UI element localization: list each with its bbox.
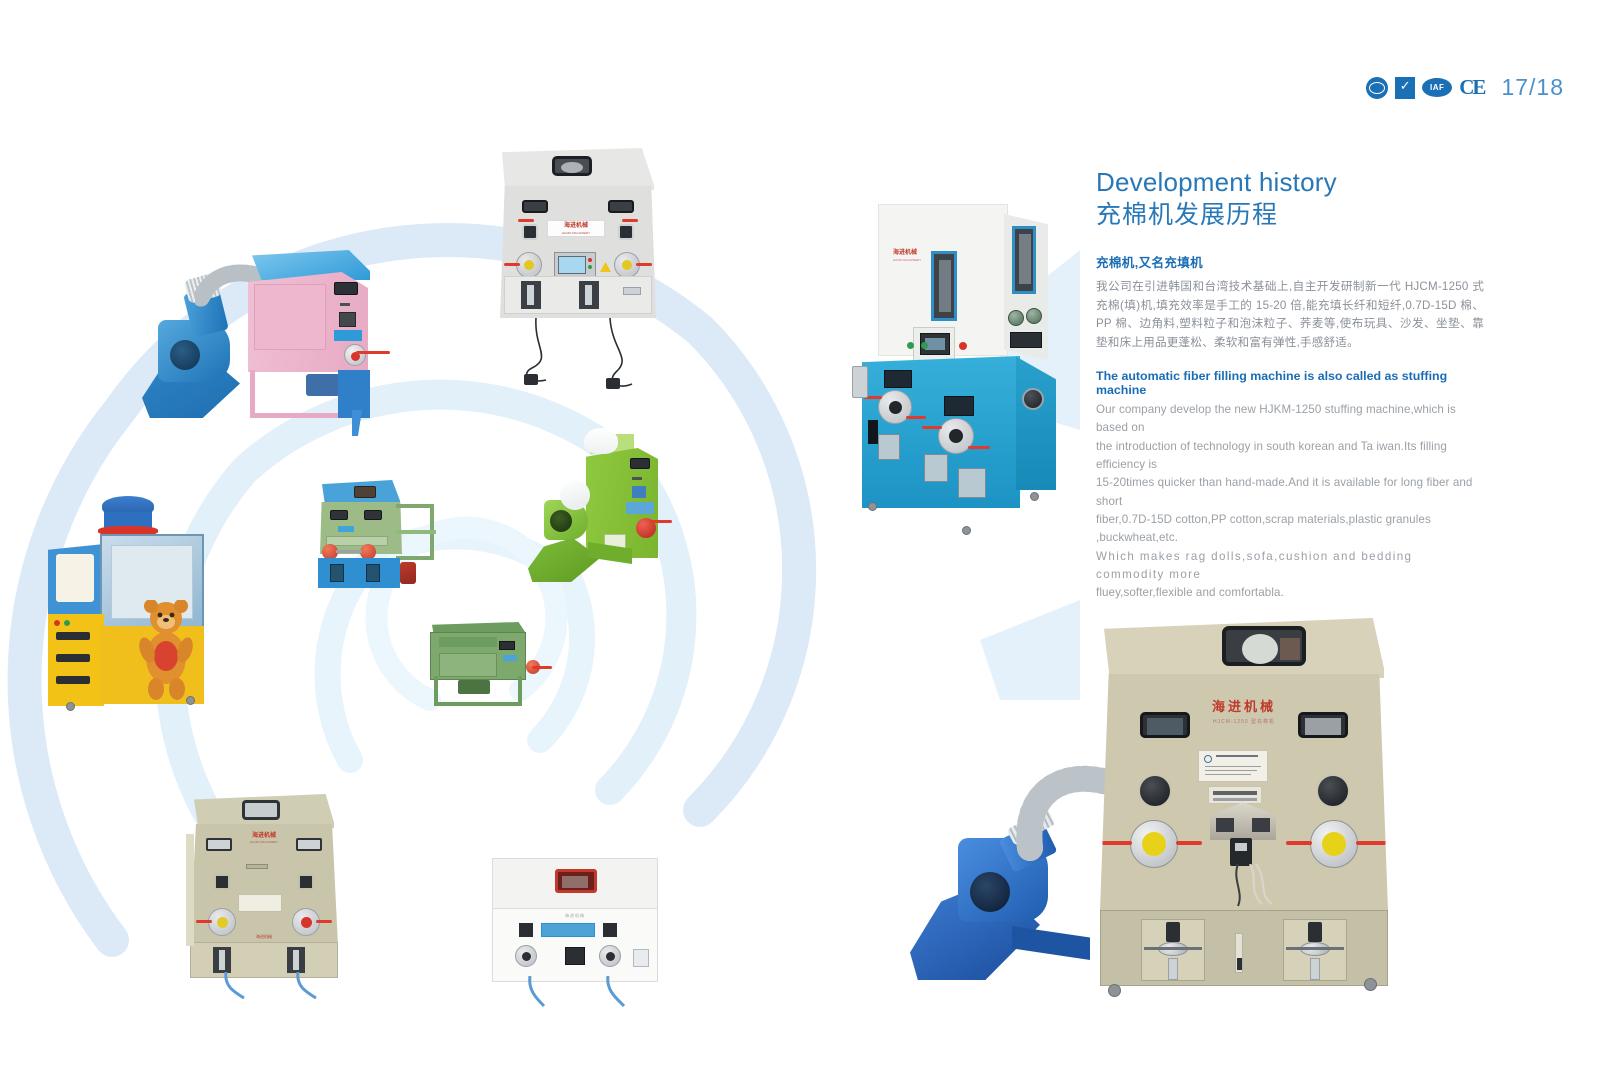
machine-pink-stuffing-machine	[140, 228, 390, 448]
cable-bundle	[1228, 864, 1288, 908]
pink-machine-cabinet	[248, 272, 368, 372]
certification-bar: IAF CE 17/18	[1366, 74, 1564, 101]
left-window-frame	[48, 544, 104, 616]
right-regulator-recess	[579, 281, 599, 309]
machine-green-blue-opener-machine	[306, 480, 438, 592]
hmi-screen	[558, 256, 586, 274]
left-knob	[522, 224, 538, 240]
motor-unit	[458, 680, 490, 694]
right-knob	[298, 874, 314, 890]
brand-label: 海进机械	[548, 221, 604, 231]
body-chinese: 我公司在引进韩国和台湾技术基础上,自主开发研制新一代 HJCM-1250 式充棉…	[1096, 278, 1484, 353]
blower-intake	[550, 510, 572, 532]
hopper-window	[552, 156, 592, 176]
cable-duct	[868, 420, 878, 444]
page-number: 17/18	[1501, 74, 1564, 101]
left-nozzle-rod	[504, 263, 520, 266]
center-distribution-funnel	[1210, 802, 1276, 840]
green-run-button	[921, 342, 928, 349]
inspection-window-mid	[924, 454, 948, 482]
blower-intake	[970, 872, 1010, 912]
left-knob	[214, 874, 230, 890]
display-left	[330, 510, 348, 520]
left-sight-window	[522, 200, 548, 213]
service-bay	[1100, 910, 1388, 986]
nozzle-rod	[532, 666, 552, 669]
body-english-line: fiber,0.7D-15D cotton,PP cotton,scrap ma…	[1096, 511, 1484, 548]
tower-sight-window-left	[931, 251, 957, 321]
side-wheel-b	[1026, 308, 1042, 324]
fiber-roll	[400, 562, 416, 584]
cabinet-door	[254, 284, 326, 350]
hopper-window	[1222, 626, 1306, 666]
machine-toy-bear-machine	[46, 496, 228, 712]
front-door	[439, 653, 497, 677]
subtitle-chinese: 充棉机,又名充填机	[1096, 252, 1484, 271]
brand-sublabel: HAIJIN MACHINERY	[893, 258, 921, 262]
label-plate	[541, 923, 595, 937]
upper-cabinet	[492, 858, 658, 910]
green-start-button	[907, 342, 914, 349]
terminal-strip	[246, 864, 268, 869]
right-foot-pedal	[606, 378, 620, 389]
upper-tower-side	[1004, 214, 1048, 360]
brand-sublabel: HAIJIN MACHINERY	[548, 231, 604, 236]
caster-wheel	[186, 696, 195, 705]
check-certification-icon	[1395, 77, 1415, 99]
iso-certification-icon	[1366, 77, 1388, 99]
run-lamp	[64, 620, 70, 626]
blower-base-plate	[1012, 926, 1090, 960]
switch-strip	[632, 477, 642, 480]
blower-intake	[170, 340, 200, 370]
brand-label: 海进机械	[893, 247, 917, 256]
base-display-left	[884, 370, 912, 388]
left-lower-body-yellow	[48, 614, 104, 706]
right-regulator-recess	[287, 947, 305, 973]
machine-white-twin-station-machine: 海进机械 HAIJIN MACHINERY	[496, 148, 676, 398]
emergency-stop-button	[959, 342, 967, 350]
air-filter-regulator	[852, 366, 868, 398]
label-plate	[334, 330, 362, 341]
blue-base	[318, 558, 400, 588]
drawer-handle	[56, 632, 90, 640]
motor-unit	[306, 374, 340, 396]
caster-wheel	[962, 526, 971, 535]
lower-cabinet: 海进机械	[492, 908, 658, 982]
frame-cross-member	[396, 530, 436, 534]
left-regulator-recess	[1141, 919, 1205, 981]
inspection-window-left	[878, 434, 900, 460]
tower-sight-window-right	[1012, 226, 1036, 294]
hmi-run-led	[588, 265, 592, 269]
left-knob	[519, 923, 533, 937]
blower-fluff-ball	[560, 480, 590, 510]
main-cabinet: 海进机械 HAIJIN MACHINERY	[500, 186, 656, 318]
right-regulator-recess	[1283, 919, 1347, 981]
spec-plate	[1198, 750, 1268, 782]
brand-strip	[338, 526, 354, 532]
right-red-indicator	[622, 219, 638, 222]
left-side-face	[186, 834, 194, 946]
machine-beige-twin-station-machine: 海进机械 HAIJIN MACHINERY 海进机械	[186, 790, 346, 990]
caster-wheel	[1364, 978, 1377, 991]
left-filling-wheel	[208, 908, 236, 936]
window-fiber-view	[1242, 634, 1278, 664]
left-regulator-recess	[213, 947, 231, 973]
spec-plate	[238, 894, 282, 912]
valve-block	[339, 312, 356, 327]
brand-label: 海进机械	[190, 830, 338, 839]
right-nozzle-rod-out	[1286, 841, 1312, 845]
side-valve	[1022, 388, 1044, 410]
left-nozzle-rod	[196, 920, 212, 923]
brand-plate: 海进机械 HAIJIN MACHINERY	[547, 220, 605, 237]
foot-pedal-cable	[352, 410, 362, 436]
carding-body	[430, 632, 526, 680]
right-knob	[603, 923, 617, 937]
main-cabinet: 海进机械 HAIJIN MACHINERY 海进机械	[190, 824, 338, 946]
brand-label: 海进机械	[493, 913, 657, 919]
right-sight-window	[608, 200, 634, 213]
title-english: Development history	[1096, 168, 1484, 198]
hmi-power-led	[588, 258, 592, 262]
brochure-page: IAF CE 17/18 Development history 充棉机发展历程…	[0, 0, 1600, 1092]
pedal-cables	[516, 314, 666, 398]
iaf-certification-icon: IAF	[1422, 78, 1452, 97]
machine-white-bench-machine: 海进机械	[488, 856, 664, 1006]
side-display	[1010, 332, 1042, 348]
fiber-output-fluff	[584, 428, 618, 454]
warning-plate	[1208, 786, 1262, 804]
hopper-window	[555, 869, 597, 893]
switch-strip	[340, 303, 350, 306]
display	[630, 458, 650, 469]
right-filling-wheel	[599, 945, 621, 967]
subtitle-english: The automatic fiber filling machine is a…	[1096, 369, 1484, 397]
body-english-line: Which makes rag dolls,sofa,cushion and b…	[1096, 548, 1484, 585]
body-english: Our company develop the new HJKM-1250 st…	[1096, 401, 1484, 602]
left-rotary-knob	[1138, 774, 1172, 808]
valve-block	[632, 486, 646, 498]
right-filling-wheel	[1310, 820, 1358, 868]
drawer-handle	[56, 654, 90, 662]
brand-sublabel: HAIJIN MACHINERY	[190, 840, 338, 844]
right-nozzle-rod	[636, 263, 652, 266]
title-chinese: 充棉机发展历程	[1096, 200, 1484, 230]
base-display-right	[944, 396, 974, 416]
hopper-window	[242, 800, 280, 820]
body-english-line: the introduction of technology in south …	[1096, 438, 1484, 475]
machine-blue-white-large-machine: 海进机械 HAIJIN MACHINERY	[844, 196, 1060, 536]
teddy-bear-decal	[134, 600, 198, 704]
terminal-block	[623, 287, 641, 295]
machine-green-carding-machine	[424, 618, 544, 714]
right-nozzle-rod-lower	[968, 446, 990, 449]
display	[499, 641, 515, 650]
right-knob	[618, 224, 634, 240]
window-glare	[561, 162, 583, 173]
left-sight-window	[1140, 712, 1190, 738]
body-english-line: Our company develop the new HJKM-1250 st…	[1096, 401, 1484, 438]
center-gauge-strip	[1235, 933, 1243, 973]
left-red-indicator	[518, 219, 534, 222]
footer-text: 海进机械	[190, 934, 338, 940]
left-nozzle-rod-lower	[906, 416, 926, 419]
left-viewing-window	[56, 554, 94, 602]
right-nozzle-rod-in	[1356, 841, 1386, 845]
nozzle-rod	[650, 520, 672, 523]
top-panel	[439, 637, 497, 647]
pedal-cables	[522, 976, 642, 1010]
base-recess-right	[366, 564, 380, 582]
right-nozzle-rod-upper	[922, 426, 942, 429]
connecting-rod	[336, 550, 362, 553]
drop-tray	[326, 536, 388, 546]
blue-base-side	[1016, 348, 1056, 490]
right-nozzle-rod	[316, 920, 332, 923]
display-right	[364, 510, 382, 520]
right-rotary-knob	[1316, 774, 1350, 808]
side-panel	[633, 949, 649, 967]
left-filling-wheel	[1130, 820, 1178, 868]
label-plate	[626, 502, 654, 514]
body-english-line: 15-20times quicker than hand-made.And it…	[1096, 474, 1484, 511]
label-plate	[503, 655, 517, 661]
warning-triangle-icon	[600, 262, 611, 272]
caster-wheel	[66, 702, 75, 711]
upper-tower-front: 海进机械 HAIJIN MACHINERY	[878, 204, 1008, 356]
left-nozzle-rod-in	[1102, 841, 1132, 845]
pedal-cables	[218, 972, 328, 1004]
caster-wheel	[868, 502, 877, 511]
center-control-box	[1230, 838, 1252, 866]
filling-nozzle-rod	[356, 351, 390, 354]
left-nozzle-rod-out	[1176, 841, 1202, 845]
hopper-window	[354, 486, 376, 498]
hmi-panel	[554, 252, 596, 278]
caster-wheel	[1030, 492, 1039, 501]
base-recess-left	[330, 564, 344, 582]
caster-wheel	[1108, 984, 1121, 997]
green-cabinet	[586, 448, 658, 558]
machine-green-blower-machine	[524, 424, 672, 598]
side-wheel-a	[1008, 310, 1024, 326]
control-display	[334, 282, 358, 295]
indicator-lamp	[54, 620, 60, 626]
left-regulator-recess	[521, 281, 541, 309]
service-bay	[504, 276, 652, 314]
left-foot-pedal	[524, 374, 538, 385]
left-filling-wheel	[515, 945, 537, 967]
ce-mark-icon: CE	[1459, 75, 1484, 100]
inspection-window-right	[958, 468, 986, 498]
right-sight-window	[1298, 712, 1348, 738]
machine-beige-large-machine: 海进机械 HJCM-1250 型充棉机	[900, 592, 1400, 1004]
drawer-handle	[56, 676, 90, 684]
content-column: Development history 充棉机发展历程 充棉机,又名充填机 我公…	[1096, 168, 1484, 602]
main-cabinet: 海进机械 HJCM-1250 型充棉机	[1100, 674, 1388, 910]
blue-base-front	[862, 356, 1020, 508]
center-control-box	[565, 947, 585, 965]
